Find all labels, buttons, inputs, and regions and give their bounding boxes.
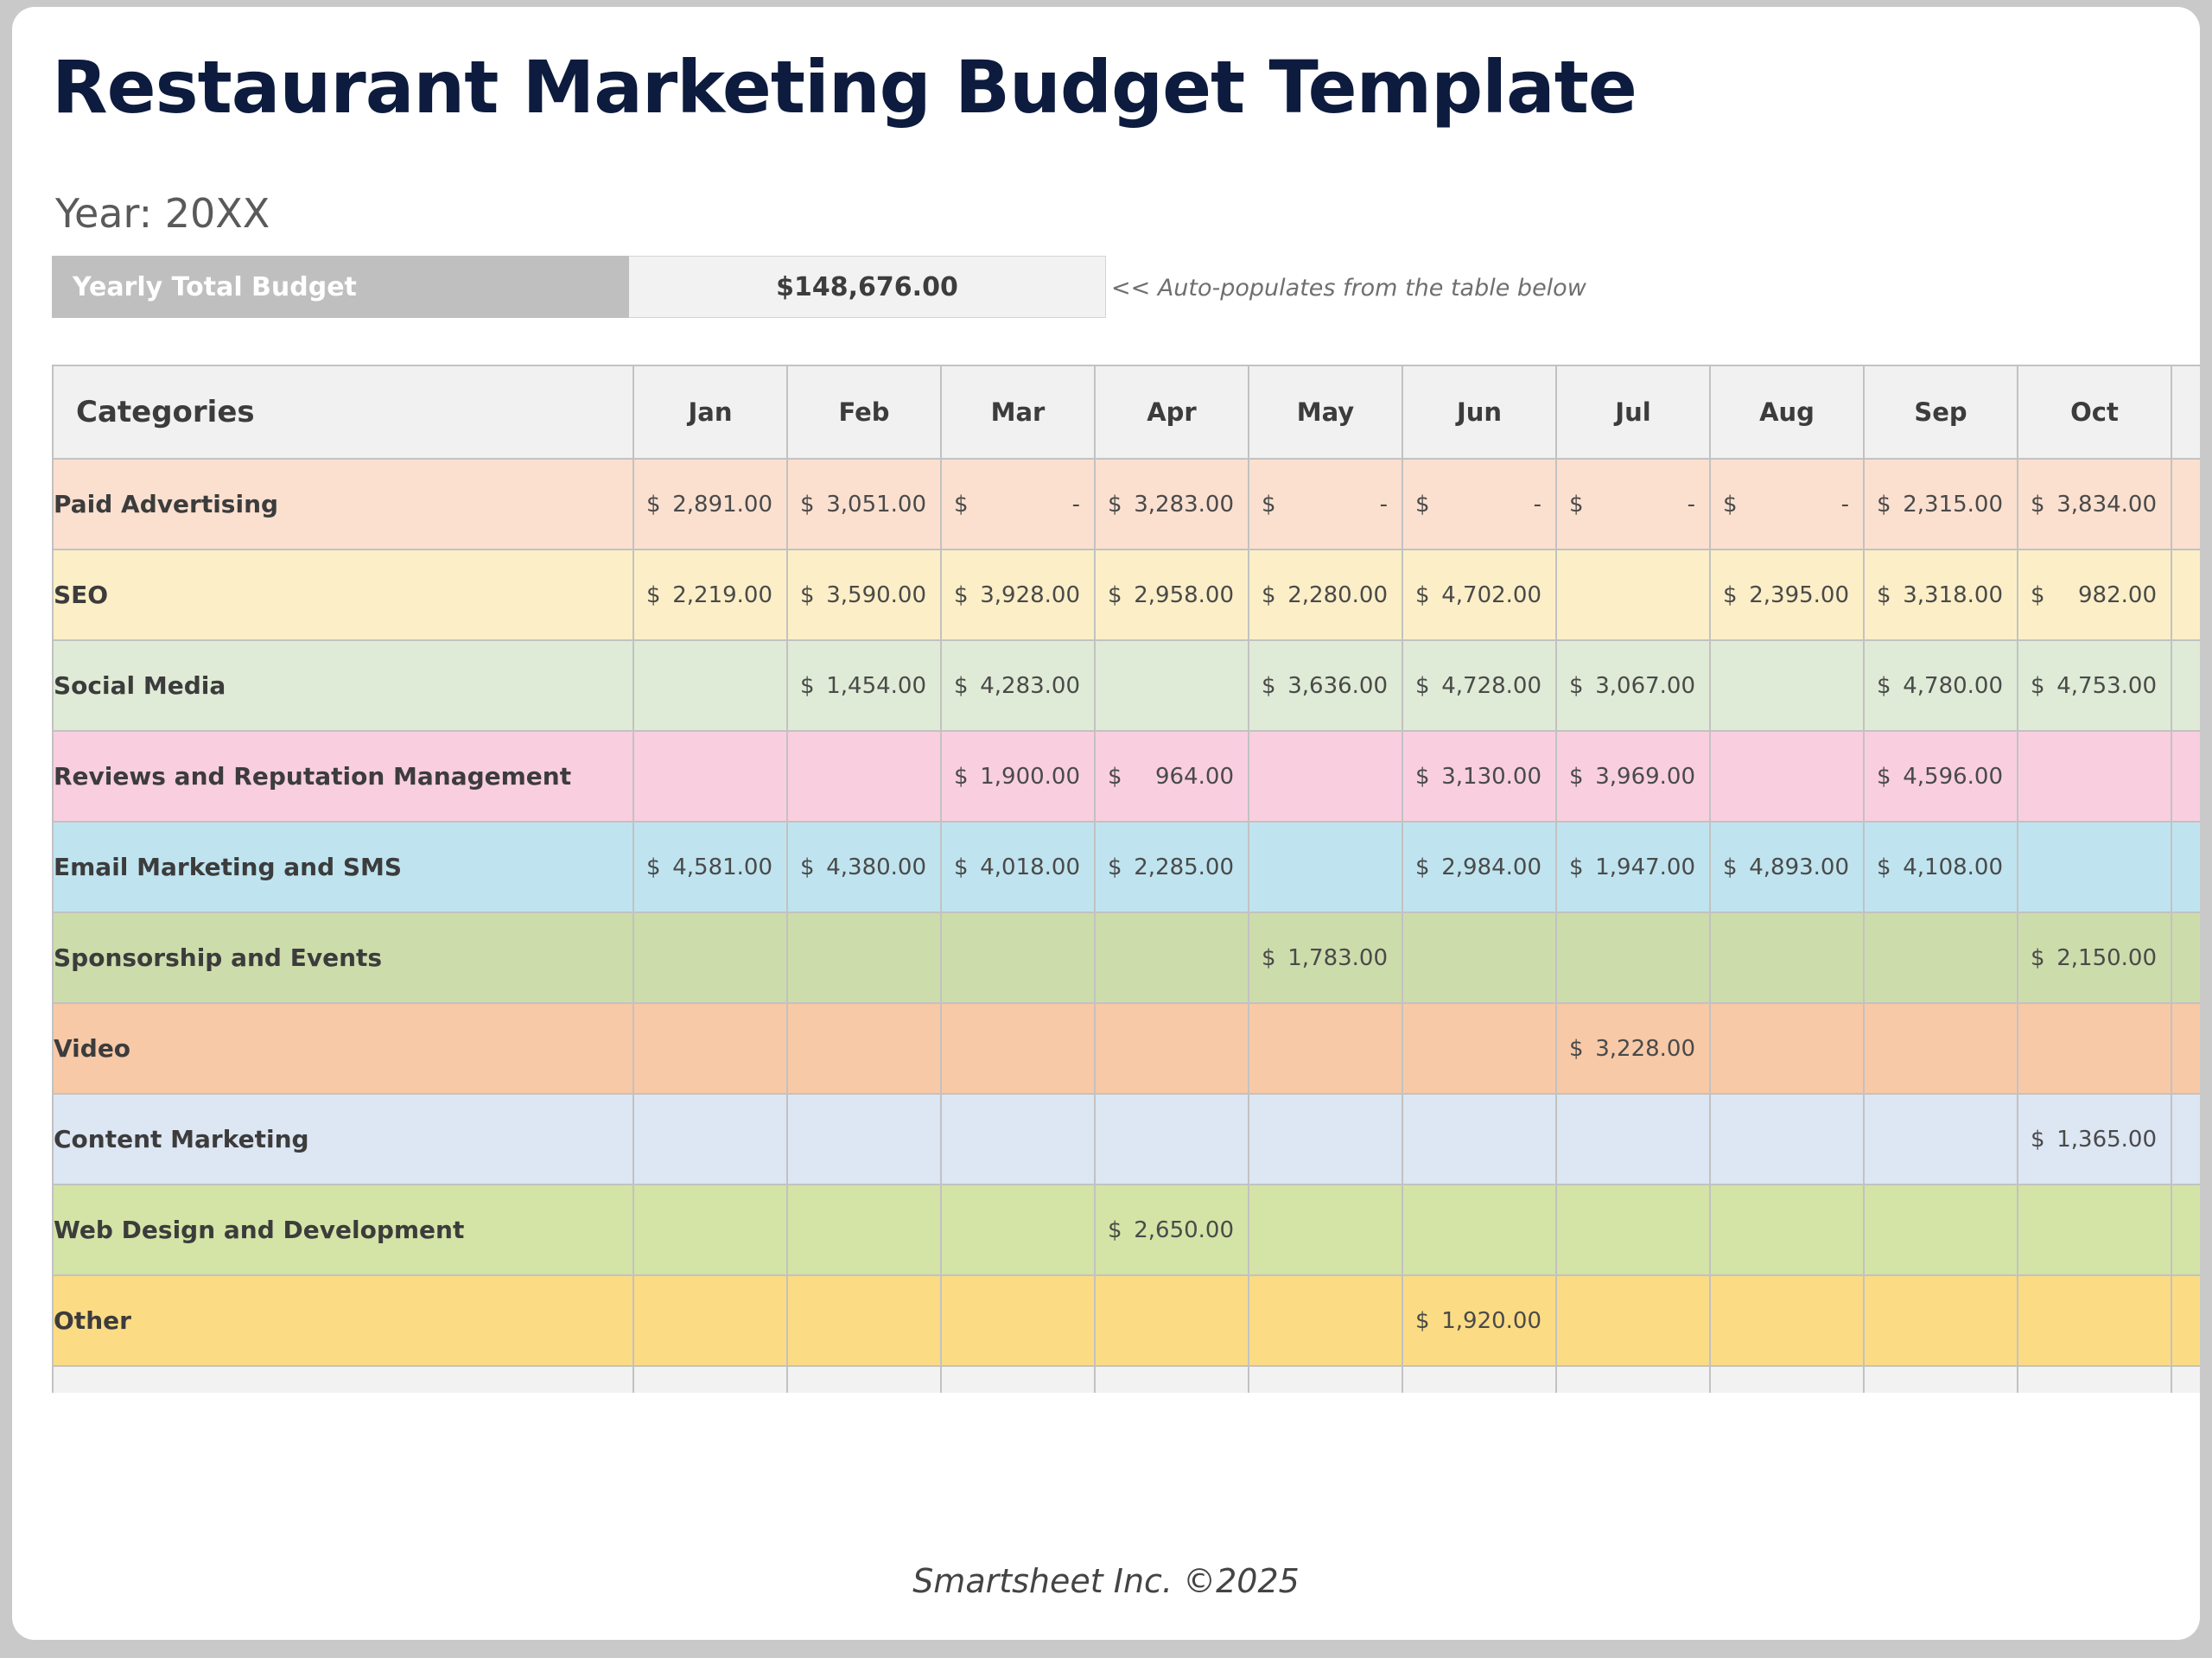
budget-cell[interactable] <box>2171 1003 2200 1094</box>
budget-cell[interactable] <box>2171 640 2200 731</box>
monthly-total-cell <box>2171 1366 2200 1393</box>
column-header-may: May <box>1249 365 1402 459</box>
yearly-total-label: Yearly Total Budget <box>52 256 629 318</box>
budget-amount: 3,590.00 <box>826 582 926 608</box>
category-label: Sponsorship and Events <box>53 912 633 1003</box>
budget-cell[interactable]: $964.00 <box>1095 731 1249 822</box>
budget-amount: 2,958.00 <box>1134 582 1234 608</box>
budget-amount: 3,283.00 <box>1134 492 1234 518</box>
budget-cell[interactable] <box>2018 1185 2171 1275</box>
column-header-sep: Sep <box>1864 365 2018 459</box>
currency-symbol: $ <box>1262 945 1276 971</box>
budget-amount: 1,365.00 <box>2056 1127 2157 1153</box>
currency-symbol: $ <box>954 673 969 699</box>
budget-amount: 4,753.00 <box>2056 673 2157 699</box>
budget-cell[interactable]: $4,702.00 <box>1402 549 1556 640</box>
budget-amount: 3,067.00 <box>1595 673 1695 699</box>
budget-cell[interactable]: $4,753.00 <box>2018 640 2171 731</box>
budget-cell[interactable]: $- <box>1402 459 1556 549</box>
budget-cell[interactable] <box>1710 912 1864 1003</box>
budget-cell[interactable]: $2,285.00 <box>1095 822 1249 912</box>
budget-cell[interactable] <box>1095 640 1249 731</box>
budget-amount: 3,834.00 <box>2056 492 2157 518</box>
header-row: Categories JanFebMarAprMayJunJulAugSepOc… <box>53 365 2200 459</box>
budget-cell[interactable] <box>2018 1003 2171 1094</box>
column-header-mar: Mar <box>941 365 1095 459</box>
column-header-oct: Oct <box>2018 365 2171 459</box>
budget-table: Categories JanFebMarAprMayJunJulAugSepOc… <box>52 365 2200 1393</box>
budget-cell[interactable] <box>2171 1185 2200 1275</box>
budget-cell[interactable]: $- <box>1556 459 1710 549</box>
yearly-total-note: << Auto-populates from the table below <box>1111 275 1586 302</box>
budget-cell[interactable]: $4,596.00 <box>1864 731 2018 822</box>
column-header-apr: Apr <box>1095 365 1249 459</box>
monthly-total-cell: $17,464.00 <box>1402 1366 1556 1393</box>
category-label: Other <box>53 1275 633 1366</box>
table-row: SEO$2,219.00$3,590.00$3,928.00$2,958.00$… <box>53 549 2200 640</box>
budget-cell[interactable]: $- <box>941 459 1095 549</box>
budget-cell[interactable]: $2,150.00 <box>2018 912 2171 1003</box>
budget-cell[interactable]: $3,228.00 <box>1556 1003 1710 1094</box>
budget-cell[interactable]: $2,280.00 <box>1249 549 1402 640</box>
budget-cell[interactable]: $2,891.00 <box>633 459 787 549</box>
budget-cell[interactable] <box>633 640 787 731</box>
budget-cell[interactable] <box>1095 1094 1249 1185</box>
budget-cell[interactable]: $2,219.00 <box>633 549 787 640</box>
column-header-jan: Jan <box>633 365 787 459</box>
currency-symbol: $ <box>800 492 815 518</box>
budget-cell[interactable] <box>633 1185 787 1275</box>
currency-symbol: $ <box>1108 492 1122 518</box>
budget-cell[interactable] <box>1710 640 1864 731</box>
monthly-total-cell: $13,084.00 <box>2018 1366 2171 1393</box>
budget-amount: 2,150.00 <box>2056 945 2157 971</box>
budget-cell[interactable]: $2,650.00 <box>1095 1185 1249 1275</box>
currency-symbol: $ <box>1877 673 1891 699</box>
table-header: Categories JanFebMarAprMayJunJulAugSepOc… <box>53 365 2200 459</box>
table-row: Paid Advertising$2,891.00$3,051.00$-$3,2… <box>53 459 2200 549</box>
budget-cell[interactable] <box>1249 1275 1402 1366</box>
currency-symbol: $ <box>1723 854 1738 880</box>
budget-cell[interactable] <box>2171 459 2200 549</box>
page-footer: Smartsheet Inc. ©2025 <box>12 1562 2200 1600</box>
budget-cell[interactable] <box>1864 1275 2018 1366</box>
budget-cell[interactable] <box>1556 549 1710 640</box>
yearly-total-row: Yearly Total Budget $148,676.00 <box>52 256 1106 318</box>
budget-amount: 1,783.00 <box>1287 945 1388 971</box>
currency-symbol: $ <box>646 582 661 608</box>
budget-cell[interactable]: $4,380.00 <box>787 822 941 912</box>
currency-symbol: $ <box>1723 582 1738 608</box>
category-label: Web Design and Development <box>53 1185 633 1275</box>
currency-symbol: $ <box>1415 492 1430 518</box>
budget-cell[interactable] <box>2171 912 2200 1003</box>
currency-symbol: $ <box>2031 492 2045 518</box>
budget-cell[interactable]: $982.00 <box>2018 549 2171 640</box>
budget-amount: 4,728.00 <box>1441 673 1541 699</box>
currency-symbol: $ <box>1415 1308 1430 1334</box>
budget-amount: 2,280.00 <box>1287 582 1388 608</box>
budget-cell[interactable] <box>1864 1003 2018 1094</box>
budget-amount: 1,454.00 <box>826 673 926 699</box>
budget-cell[interactable]: $- <box>1249 459 1402 549</box>
currency-symbol: $ <box>1108 764 1122 790</box>
category-label: Content Marketing <box>53 1094 633 1185</box>
budget-cell[interactable]: $3,318.00 <box>1864 549 2018 640</box>
currency-symbol: $ <box>1877 854 1891 880</box>
budget-cell[interactable] <box>633 1003 787 1094</box>
budget-cell[interactable]: $2,395.00 <box>1710 549 1864 640</box>
budget-cell[interactable] <box>1402 1094 1556 1185</box>
budget-cell[interactable]: $4,728.00 <box>1402 640 1556 731</box>
budget-cell[interactable]: $3,590.00 <box>787 549 941 640</box>
budget-cell[interactable] <box>787 1185 941 1275</box>
currency-symbol: $ <box>2031 582 2045 608</box>
budget-amount: 3,130.00 <box>1441 764 1541 790</box>
year-label: Year: 20XX <box>55 190 270 237</box>
budget-table-scroll[interactable]: Categories JanFebMarAprMayJunJulAugSepOc… <box>52 365 2200 1393</box>
budget-cell[interactable] <box>941 1003 1095 1094</box>
budget-cell[interactable] <box>787 1003 941 1094</box>
currency-symbol: $ <box>1415 673 1430 699</box>
budget-amount: 4,581.00 <box>672 854 772 880</box>
budget-cell[interactable]: $4,780.00 <box>1864 640 2018 731</box>
yearly-total-value[interactable]: $148,676.00 <box>629 256 1106 318</box>
budget-amount: 1,947.00 <box>1595 854 1695 880</box>
budget-cell[interactable]: $3,051.00 <box>787 459 941 549</box>
category-label: Social Media <box>53 640 633 731</box>
currency-symbol: $ <box>954 492 969 518</box>
budget-cell[interactable] <box>633 1094 787 1185</box>
budget-amount: - <box>1841 492 1849 518</box>
currency-symbol: $ <box>646 854 661 880</box>
budget-amount: 1,900.00 <box>980 764 1080 790</box>
budget-cell[interactable] <box>1556 1094 1710 1185</box>
column-header-categories: Categories <box>53 365 633 459</box>
currency-symbol: $ <box>954 582 969 608</box>
currency-symbol: $ <box>1877 764 1891 790</box>
table-footer: Monthly Total$9,691.00$12,475.00$14,129.… <box>53 1366 2200 1393</box>
currency-symbol: $ <box>1108 854 1122 880</box>
budget-amount: 1,920.00 <box>1441 1308 1541 1334</box>
currency-symbol: $ <box>1877 582 1891 608</box>
monthly-total-cell: $7,699.00 <box>1249 1366 1402 1393</box>
currency-symbol: $ <box>2031 673 2045 699</box>
budget-cell[interactable] <box>633 731 787 822</box>
budget-cell[interactable] <box>1556 912 1710 1003</box>
monthly-total-cell: $9,691.00 <box>633 1366 787 1393</box>
budget-cell[interactable] <box>633 1275 787 1366</box>
budget-cell[interactable] <box>2018 822 2171 912</box>
budget-cell[interactable] <box>1864 1094 2018 1185</box>
budget-cell[interactable]: $2,984.00 <box>1402 822 1556 912</box>
budget-amount: 2,891.00 <box>672 492 772 518</box>
budget-cell[interactable] <box>1095 912 1249 1003</box>
budget-amount: - <box>1688 492 1695 518</box>
budget-amount: 4,893.00 <box>1749 854 1849 880</box>
budget-cell[interactable] <box>941 1094 1095 1185</box>
currency-symbol: $ <box>1108 1217 1122 1243</box>
budget-cell[interactable]: $3,283.00 <box>1095 459 1249 549</box>
budget-amount: 2,984.00 <box>1441 854 1541 880</box>
currency-symbol: $ <box>1415 582 1430 608</box>
budget-cell[interactable] <box>1864 1185 2018 1275</box>
budget-cell[interactable] <box>1710 1185 1864 1275</box>
budget-cell[interactable] <box>633 912 787 1003</box>
budget-cell[interactable] <box>2171 731 2200 822</box>
budget-cell[interactable] <box>941 1185 1095 1275</box>
category-label: Paid Advertising <box>53 459 633 549</box>
budget-cell[interactable] <box>1556 1185 1710 1275</box>
table-row: Web Design and Development$2,650.00 <box>53 1185 2200 1275</box>
currency-symbol: $ <box>954 854 969 880</box>
budget-cell[interactable]: $4,581.00 <box>633 822 787 912</box>
budget-cell[interactable]: $4,893.00 <box>1710 822 1864 912</box>
currency-symbol: $ <box>1723 492 1738 518</box>
budget-cell[interactable]: $3,834.00 <box>2018 459 2171 549</box>
column-header-aug: Aug <box>1710 365 1864 459</box>
budget-cell[interactable]: $1,920.00 <box>1402 1275 1556 1366</box>
monthly-total-cell: $19,117.00 <box>1864 1366 2018 1393</box>
budget-cell[interactable] <box>2018 731 2171 822</box>
budget-amount: 2,395.00 <box>1749 582 1849 608</box>
budget-cell[interactable] <box>1710 1003 1864 1094</box>
currency-symbol: $ <box>954 764 969 790</box>
budget-cell[interactable] <box>2018 1275 2171 1366</box>
currency-symbol: $ <box>1877 492 1891 518</box>
budget-amount: 2,650.00 <box>1134 1217 1234 1243</box>
budget-cell[interactable] <box>1249 822 1402 912</box>
budget-cell[interactable] <box>1095 1275 1249 1366</box>
budget-amount: 4,702.00 <box>1441 582 1541 608</box>
currency-symbol: $ <box>1415 854 1430 880</box>
budget-cell[interactable]: $1,454.00 <box>787 640 941 731</box>
budget-cell[interactable] <box>2171 549 2200 640</box>
budget-cell[interactable] <box>941 912 1095 1003</box>
table-row: Sponsorship and Events$1,783.00$2,150.00 <box>53 912 2200 1003</box>
budget-cell[interactable] <box>1710 1094 1864 1185</box>
budget-amount: 2,315.00 <box>1903 492 2003 518</box>
monthly-total-cell: $12,475.00 <box>787 1366 941 1393</box>
budget-cell[interactable] <box>1556 1275 1710 1366</box>
currency-symbol: $ <box>800 854 815 880</box>
budget-cell[interactable] <box>787 912 941 1003</box>
category-label: SEO <box>53 549 633 640</box>
budget-amount: 4,780.00 <box>1903 673 2003 699</box>
budget-cell[interactable]: $4,018.00 <box>941 822 1095 912</box>
currency-symbol: $ <box>1569 1036 1584 1062</box>
budget-amount: - <box>1072 492 1080 518</box>
currency-symbol: $ <box>1262 492 1276 518</box>
column-header-feb: Feb <box>787 365 941 459</box>
budget-cell[interactable]: $3,130.00 <box>1402 731 1556 822</box>
budget-cell[interactable] <box>941 1275 1095 1366</box>
budget-amount: - <box>1380 492 1388 518</box>
budget-cell[interactable] <box>2171 822 2200 912</box>
category-label: Email Marketing and SMS <box>53 822 633 912</box>
currency-symbol: $ <box>646 492 661 518</box>
page-title: Restaurant Marketing Budget Template <box>52 45 1637 130</box>
budget-cell[interactable] <box>1249 1185 1402 1275</box>
table-row: Social Media$1,454.00$4,283.00$3,636.00$… <box>53 640 2200 731</box>
budget-amount: 2,285.00 <box>1134 854 1234 880</box>
budget-cell[interactable]: $3,928.00 <box>941 549 1095 640</box>
table-row: Other$1,920.00 <box>53 1275 2200 1366</box>
budget-amount: 4,283.00 <box>980 673 1080 699</box>
budget-cell[interactable] <box>787 731 941 822</box>
budget-amount: 3,051.00 <box>826 492 926 518</box>
budget-cell[interactable] <box>1402 912 1556 1003</box>
budget-amount: 4,380.00 <box>826 854 926 880</box>
budget-cell[interactable] <box>2171 1275 2200 1366</box>
budget-amount: - <box>1534 492 1541 518</box>
currency-symbol: $ <box>2031 945 2045 971</box>
budget-cell[interactable]: $2,315.00 <box>1864 459 2018 549</box>
currency-symbol: $ <box>1262 673 1276 699</box>
budget-cell[interactable]: $3,969.00 <box>1556 731 1710 822</box>
currency-symbol: $ <box>800 582 815 608</box>
page-root: Restaurant Marketing Budget Template Yea… <box>0 0 2212 1658</box>
budget-cell[interactable] <box>1402 1185 1556 1275</box>
budget-cell[interactable]: $1,947.00 <box>1556 822 1710 912</box>
budget-cell[interactable]: $1,783.00 <box>1249 912 1402 1003</box>
monthly-total-cell: $12,211.00 <box>1556 1366 1710 1393</box>
table-row: Email Marketing and SMS$4,581.00$4,380.0… <box>53 822 2200 912</box>
budget-cell[interactable] <box>787 1094 941 1185</box>
budget-cell[interactable]: $1,365.00 <box>2018 1094 2171 1185</box>
monthly-total-cell: $14,129.00 <box>941 1366 1095 1393</box>
budget-amount: 3,969.00 <box>1595 764 1695 790</box>
budget-amount: 4,596.00 <box>1903 764 2003 790</box>
budget-cell[interactable] <box>1710 1275 1864 1366</box>
budget-cell[interactable] <box>1864 912 2018 1003</box>
column-header-nov: Nov <box>2171 365 2200 459</box>
budget-cell[interactable] <box>787 1275 941 1366</box>
budget-cell[interactable]: $2,958.00 <box>1095 549 1249 640</box>
table-row: Reviews and Reputation Management$1,900.… <box>53 731 2200 822</box>
document-body: Restaurant Marketing Budget Template Yea… <box>12 7 2200 1640</box>
budget-cell[interactable] <box>1249 1094 1402 1185</box>
monthly-total-label: Monthly Total <box>53 1366 633 1393</box>
currency-symbol: $ <box>1108 582 1122 608</box>
budget-amount: 3,928.00 <box>980 582 1080 608</box>
budget-cell[interactable] <box>1095 1003 1249 1094</box>
budget-amount: 4,018.00 <box>980 854 1080 880</box>
budget-cell[interactable] <box>1710 731 1864 822</box>
budget-cell[interactable]: $3,636.00 <box>1249 640 1402 731</box>
budget-cell[interactable] <box>1249 1003 1402 1094</box>
monthly-total-row: Monthly Total$9,691.00$12,475.00$14,129.… <box>53 1366 2200 1393</box>
budget-amount: 3,228.00 <box>1595 1036 1695 1062</box>
currency-symbol: $ <box>1415 764 1430 790</box>
category-label: Video <box>53 1003 633 1094</box>
currency-symbol: $ <box>1569 854 1584 880</box>
document-sheet: Restaurant Marketing Budget Template Yea… <box>12 7 2200 1640</box>
monthly-total-cell: $12,140.00 <box>1095 1366 1249 1393</box>
table-body: Paid Advertising$2,891.00$3,051.00$-$3,2… <box>53 459 2200 1366</box>
budget-cell[interactable] <box>1402 1003 1556 1094</box>
budget-amount: 982.00 <box>2078 582 2157 608</box>
budget-cell[interactable]: $4,108.00 <box>1864 822 2018 912</box>
budget-cell[interactable]: $3,067.00 <box>1556 640 1710 731</box>
currency-symbol: $ <box>800 673 815 699</box>
table-row: Content Marketing$1,365.00 <box>53 1094 2200 1185</box>
budget-cell[interactable] <box>1249 731 1402 822</box>
budget-amount: 4,108.00 <box>1903 854 2003 880</box>
currency-symbol: $ <box>1569 764 1584 790</box>
column-header-jun: Jun <box>1402 365 1556 459</box>
budget-cell[interactable]: $1,900.00 <box>941 731 1095 822</box>
currency-symbol: $ <box>1569 492 1584 518</box>
budget-cell[interactable] <box>2171 1094 2200 1185</box>
category-label: Reviews and Reputation Management <box>53 731 633 822</box>
budget-amount: 964.00 <box>1155 764 1234 790</box>
budget-cell[interactable]: $4,283.00 <box>941 640 1095 731</box>
budget-amount: 2,219.00 <box>672 582 772 608</box>
currency-symbol: $ <box>1569 673 1584 699</box>
monthly-total-cell: $7,288.00 <box>1710 1366 1864 1393</box>
column-header-jul: Jul <box>1556 365 1710 459</box>
table-row: Video$3,228.00 <box>53 1003 2200 1094</box>
budget-amount: 3,318.00 <box>1903 582 2003 608</box>
currency-symbol: $ <box>2031 1127 2045 1153</box>
budget-cell[interactable]: $- <box>1710 459 1864 549</box>
currency-symbol: $ <box>1262 582 1276 608</box>
budget-amount: 3,636.00 <box>1287 673 1388 699</box>
